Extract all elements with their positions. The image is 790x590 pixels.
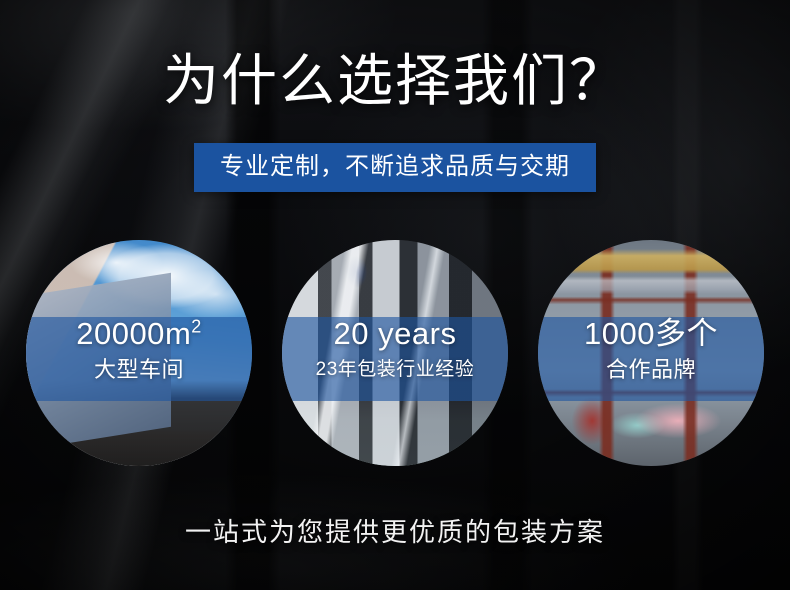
footer-slogan: 一站式为您提供更优质的包装方案 bbox=[0, 512, 790, 549]
feature-circle-workshop-area: 20000m2 大型车间 bbox=[26, 240, 252, 466]
feature-circle-experience-years: 20 years 23年包装行业经验 bbox=[282, 240, 508, 466]
subtitle-banner: 专业定制，不断追求品质与交期 bbox=[194, 143, 596, 192]
subtitle-banner-wrap: 专业定制，不断追求品质与交期 bbox=[0, 143, 790, 192]
circle-main-number: 20000 bbox=[76, 316, 165, 351]
promo-poster: 为什么选择我们？ 专业定制，不断追求品质与交期 20000m2 大型车间 20 … bbox=[0, 0, 790, 590]
circle-text-block: 1000多个 合作品牌 bbox=[538, 314, 764, 386]
feature-circles: 20000m2 大型车间 20 years 23年包装行业经验 1000多个 合… bbox=[0, 240, 790, 466]
page-title: 为什么选择我们？ bbox=[0, 52, 790, 111]
circle-main-value: 20000m2 bbox=[26, 314, 252, 354]
circle-main-unit: m bbox=[165, 316, 191, 351]
circle-sub-label: 合作品牌 bbox=[538, 354, 764, 386]
circle-main-value: 20 years bbox=[282, 314, 508, 354]
circle-sub-label: 大型车间 bbox=[26, 354, 252, 386]
feature-circle-partner-brands: 1000多个 合作品牌 bbox=[538, 240, 764, 466]
circle-text-block: 20000m2 大型车间 bbox=[26, 314, 252, 386]
circle-text-block: 20 years 23年包装行业经验 bbox=[282, 314, 508, 386]
circle-main-value: 1000多个 bbox=[538, 314, 764, 354]
circle-sub-label: 23年包装行业经验 bbox=[282, 354, 508, 386]
circle-main-superscript: 2 bbox=[191, 317, 202, 337]
